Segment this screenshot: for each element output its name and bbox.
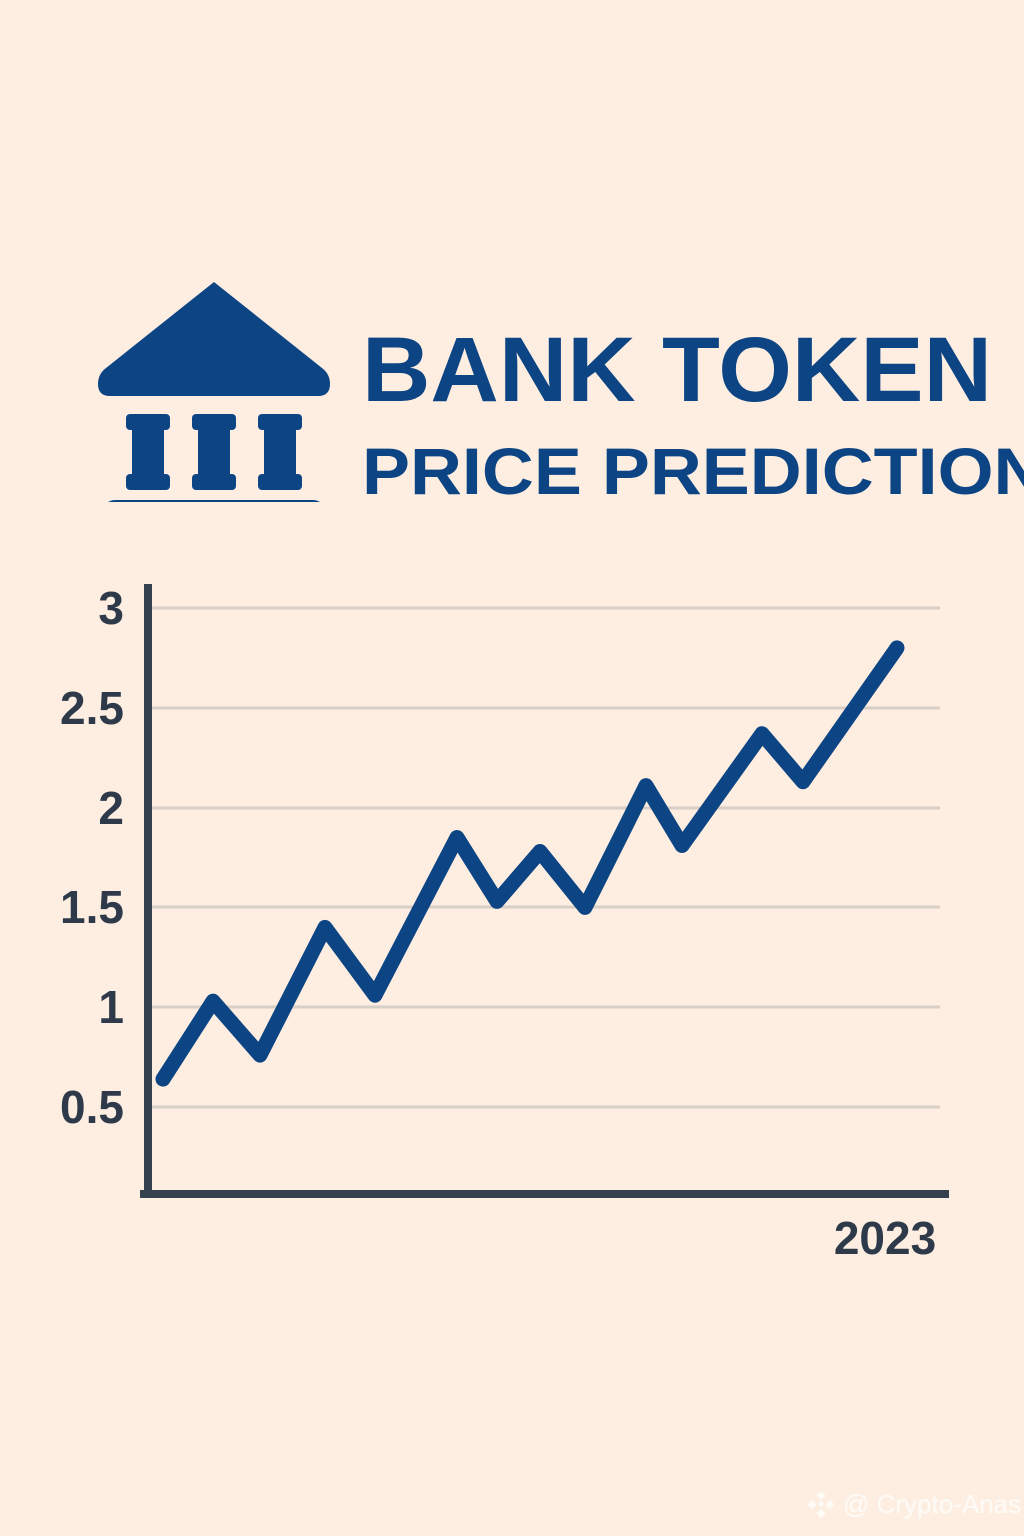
y-tick-label-2: 2 (14, 785, 124, 831)
poster-canvas: BANK TOKEN PRICE PREDICTION 3 2.5 2 (0, 0, 1024, 1536)
watermark-label: @ Crypto-Anas (843, 1491, 1021, 1517)
binance-diamond-icon (806, 1489, 836, 1519)
y-tick-label-1: 1 (14, 984, 124, 1030)
y-tick-label-0-5: 0.5 (14, 1084, 124, 1130)
title-block: BANK TOKEN PRICE PREDICTION (360, 266, 960, 516)
price-line-series (163, 648, 897, 1079)
page-title: BANK TOKEN (362, 324, 992, 416)
y-tick-label-3: 3 (14, 585, 124, 631)
watermark: @ Crypto-Anas (806, 1484, 1014, 1524)
x-axis-label-2023: 2023 (820, 1215, 950, 1261)
bank-building-icon (98, 276, 330, 502)
y-tick-label-1-5: 1.5 (14, 884, 124, 930)
price-chart: 3 2.5 2 1.5 1 0.5 2023 (0, 560, 1024, 1290)
page-subtitle: PRICE PREDICTION (362, 438, 1024, 504)
y-tick-label-2-5: 2.5 (14, 685, 124, 731)
header: BANK TOKEN PRICE PREDICTION (0, 266, 1024, 516)
chart-canvas (0, 560, 1024, 1290)
